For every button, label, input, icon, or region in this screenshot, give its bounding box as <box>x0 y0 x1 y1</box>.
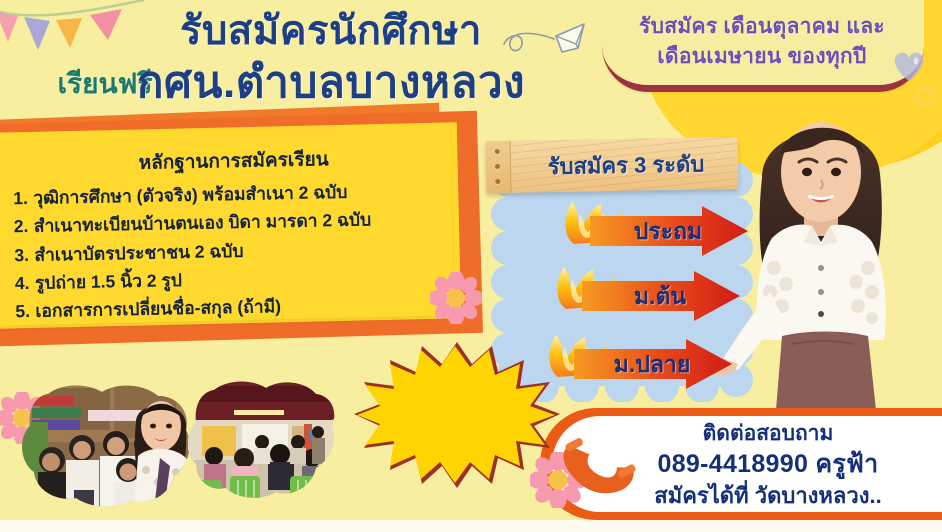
level-arrow-2: ม.ต้น <box>548 265 748 327</box>
list-item-text: สำเนาบัตรประชาชน 2 ฉบับ <box>34 241 244 265</box>
level-arrow-1: ประถม <box>556 200 756 262</box>
headline-line-1: รับสมัครนักศึกษา <box>96 8 566 55</box>
bottom-strip <box>0 520 942 532</box>
poster-headline: รับสมัครนักศึกษา กศน.ตำบลบางหลวง <box>96 8 566 110</box>
poster-canvas: รับสมัคร เดือนตุลาคม และ เดือนเมษายน ของ… <box>0 0 942 532</box>
list-item-number: 3. <box>14 241 35 270</box>
contact-line-1: ติดต่อสอบถาม <box>618 420 918 448</box>
list-item-number: 1. <box>13 184 34 213</box>
level-label: ม.ปลาย <box>598 347 706 383</box>
level-label: ม.ต้น <box>606 279 714 315</box>
banner-line-1: รับสมัคร เดือนตุลาคม และ <box>612 12 912 42</box>
heart-icon <box>890 48 928 82</box>
list-item-number: 5. <box>15 297 36 326</box>
nail-icon <box>495 179 500 184</box>
contact-line-2: 089-4418990 ครูฟ้า <box>618 448 918 481</box>
list-item-text: เอกสารการเปลี่ยนชื่อ-สกุล (ถ้ามี) <box>35 297 281 322</box>
banner-line-2: เดือนเมษายน ของทุกปี <box>612 42 912 72</box>
headline-line-2: กศน.ตำบลบางหลวง <box>96 57 566 110</box>
list-item-number: 4. <box>15 269 36 298</box>
students-group-photo <box>18 382 194 510</box>
level-arrow-3: ม.ปลาย <box>540 333 740 395</box>
levels-sign-label: รับสมัคร 3 ระดับ <box>520 146 733 185</box>
contact-block: ติดต่อสอบถาม 089-4418990 ครูฟ้า สมัครได้… <box>618 420 918 510</box>
list-item-text: รูปถ่าย 1.5 นิ้ว 2 รูป <box>35 270 182 293</box>
flower-icon <box>430 272 482 324</box>
nail-icon <box>495 164 500 169</box>
contact-line-3: สมัครได้ที่ วัดบางหลวง.. <box>618 481 918 510</box>
classroom-photo <box>188 380 336 502</box>
list-item-text: สำเนาทะเบียนบ้านตนเอง บิดา มารดา 2 ฉบับ <box>34 210 372 236</box>
top-right-banner-text: รับสมัคร เดือนตุลาคม และ เดือนเมษายน ของ… <box>612 12 912 73</box>
level-label: ประถม <box>614 214 722 250</box>
levels-wood-sign: รับสมัคร 3 ระดับ <box>486 137 739 193</box>
list-item-text: วุฒิการศึกษา (ตัวจริง) พร้อมสำเนา 2 ฉบับ <box>33 182 347 208</box>
requirements-block: หลักฐานการสมัครเรียน 1.วุฒิการศึกษา (ตัว… <box>0 142 472 327</box>
requirements-list: 1.วุฒิการศึกษา (ตัวจริง) พร้อมสำเนา 2 ฉบ… <box>0 175 472 326</box>
list-item-number: 2. <box>14 212 35 241</box>
nail-icon <box>495 149 500 154</box>
